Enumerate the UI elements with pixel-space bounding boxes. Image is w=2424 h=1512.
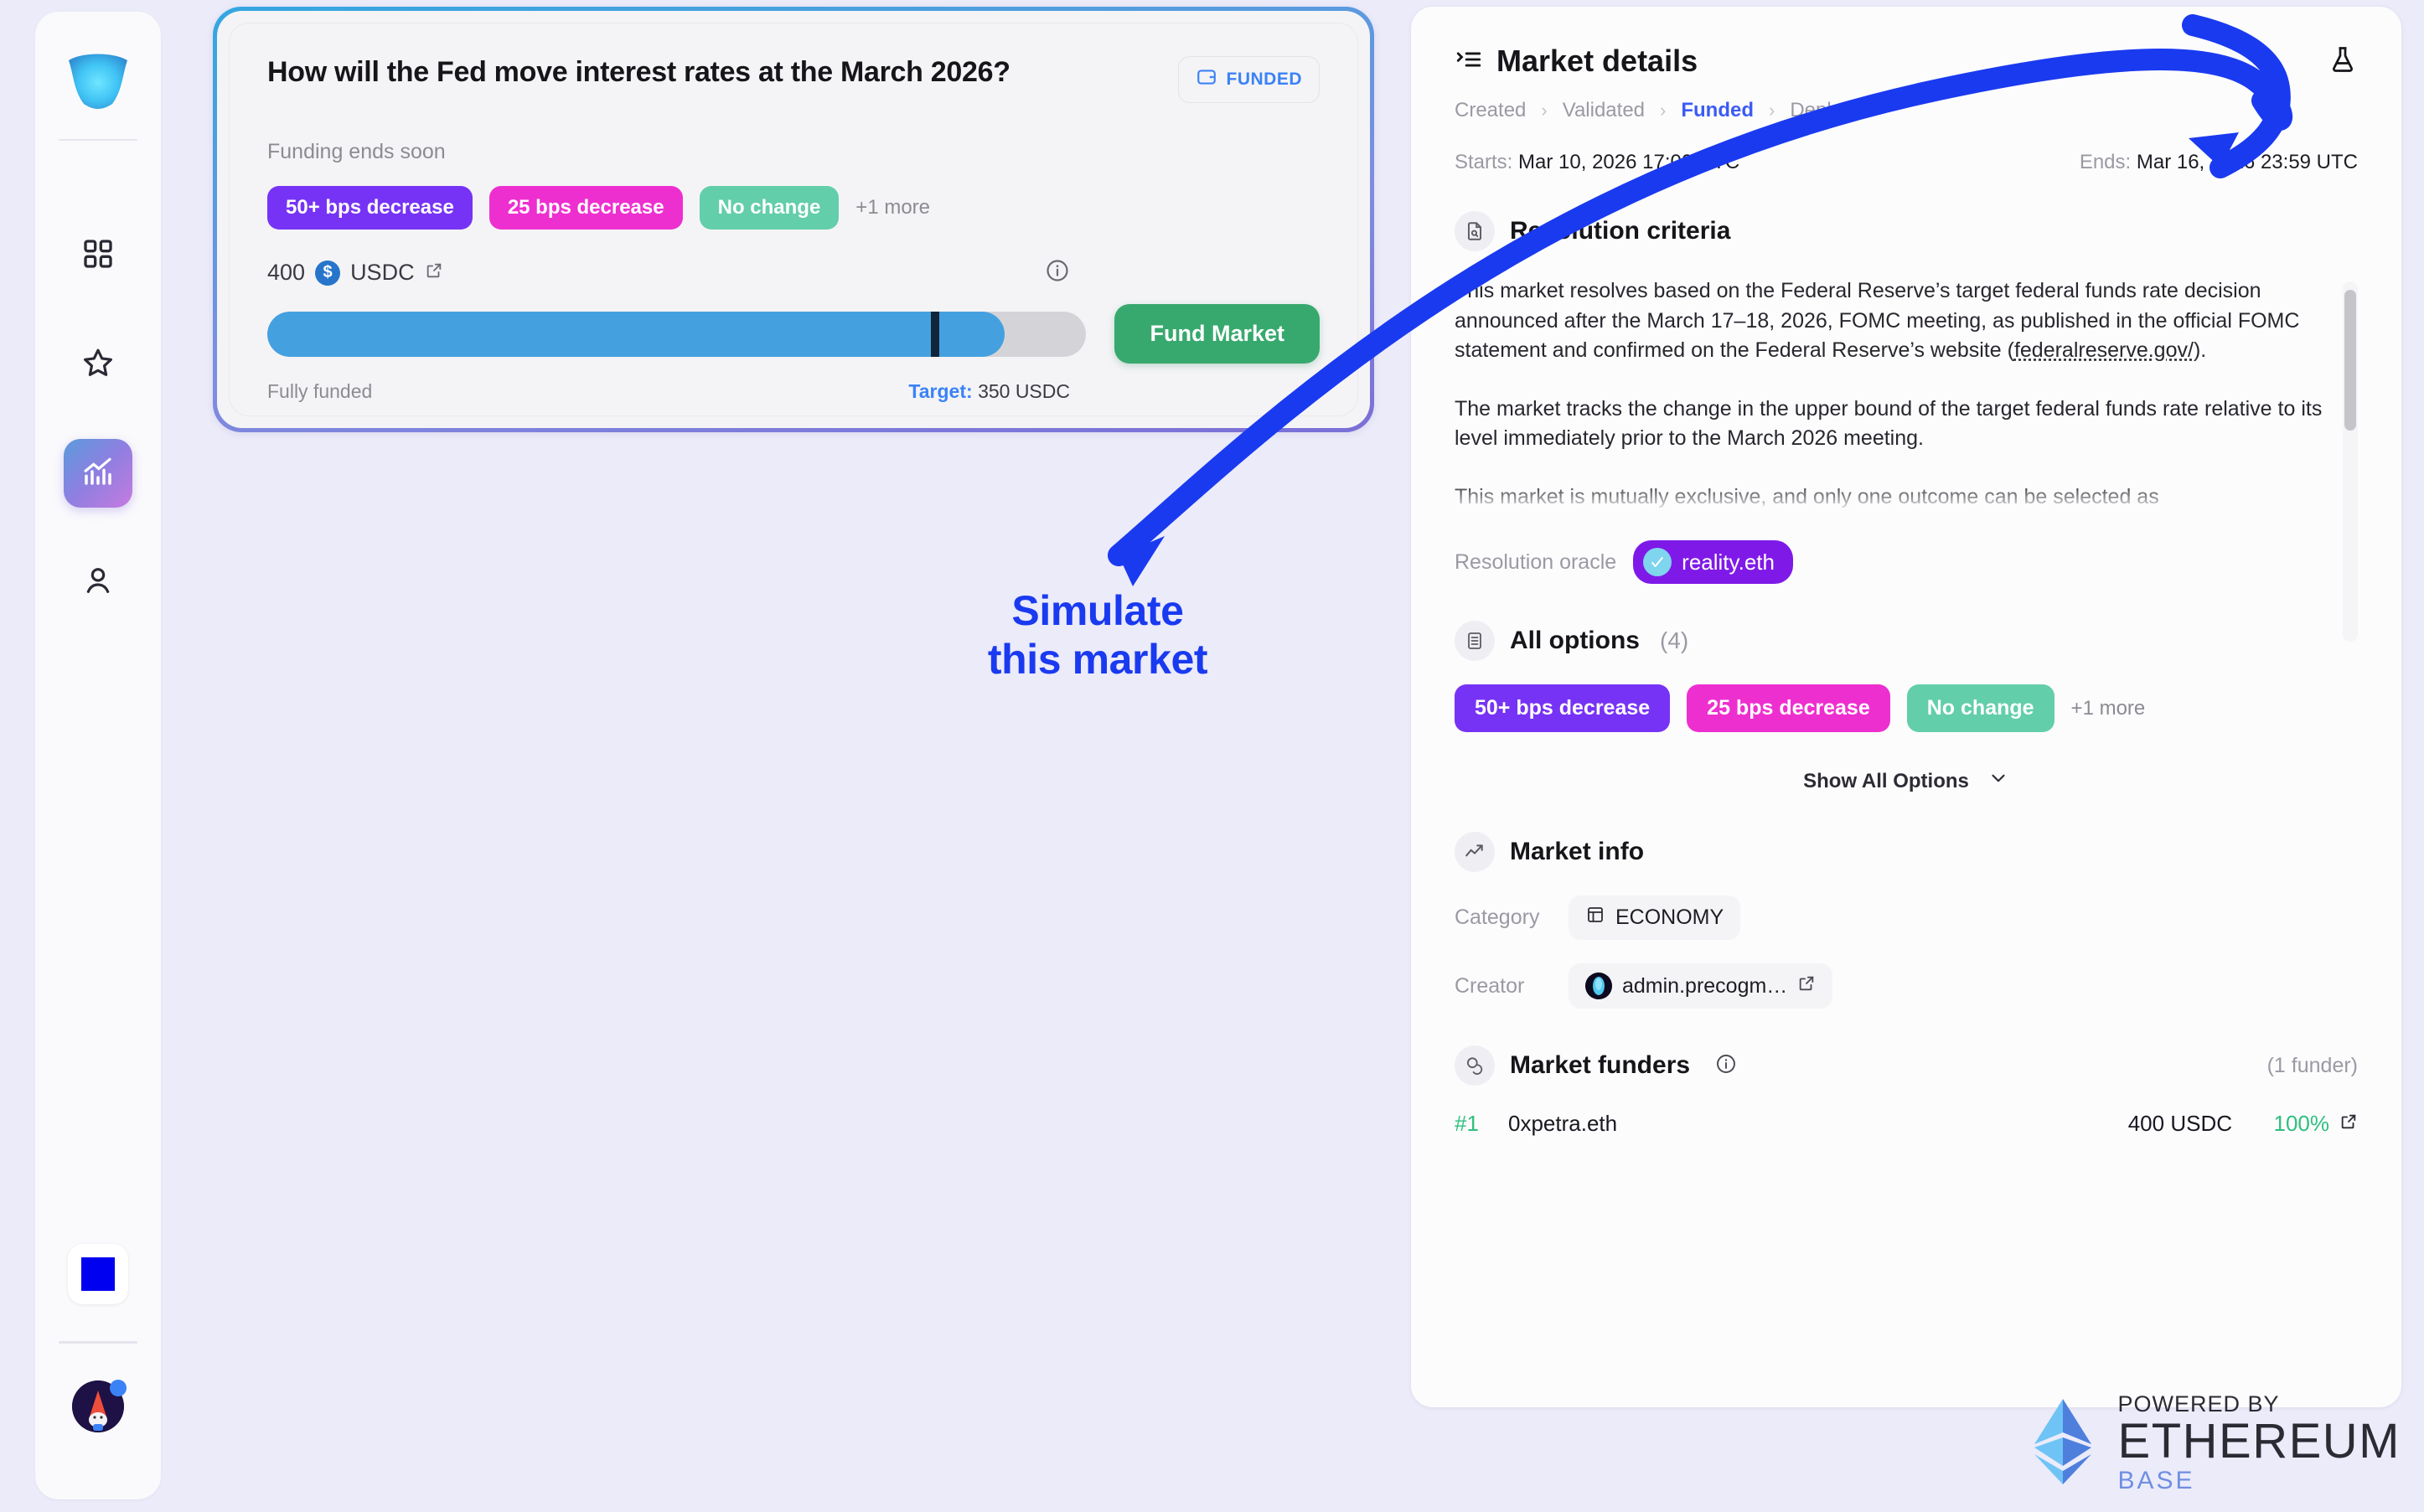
calendar-icon [1585,905,1605,931]
info-circle-icon[interactable] [1045,258,1070,287]
market-info-title: Market info [1510,838,1644,866]
powered-by-badge: POWERED BY ETHEREUM BASE [2023,1393,2401,1494]
sidebar-bottom [35,1244,161,1499]
target-label: Target: 350 USDC [908,380,1070,403]
market-title: How will the Fed move interest rates at … [267,56,1010,89]
chevron-right-icon: › [1541,100,1547,121]
all-options-count: (4) [1660,627,1688,654]
base-network-logo-icon[interactable] [68,1244,128,1304]
fund-market-button[interactable]: Fund Market [1114,304,1320,364]
table-row[interactable]: #1 0xpetra.eth 400 USDC 100% [1455,1111,2358,1137]
document-search-icon [1455,211,1495,251]
funder-percent: 100% [2232,1111,2358,1137]
list-icon [1455,621,1495,661]
category-label: Category [1455,906,1548,930]
amount-row: 400 $ USDC [267,258,1320,287]
chevron-down-icon [1987,767,2009,795]
external-link-icon[interactable] [425,260,443,286]
breadcrumb-item-deployed[interactable]: Deployed [1790,99,1874,122]
sidebar-item-profile[interactable] [64,548,132,617]
creator-value: admin.precogm… [1622,974,1787,999]
criteria-paragraph: This market resolves based on the Federa… [1455,276,2323,366]
all-options-section-header: All options (4) [1455,621,2358,661]
sidebar [35,12,161,1499]
progress-target-marker [931,312,939,357]
breadcrumb-item-funded[interactable]: Funded [1681,99,1754,122]
starts-label: Starts: [1455,151,1512,173]
date-row: Starts: Mar 10, 2026 17:00 UTC Ends: Mar… [1455,151,2358,174]
criteria-paragraph: The market tracks the change in the uppe… [1455,395,2323,454]
creator-row: Creator admin.precogm… [1455,963,2358,1009]
trending-up-icon [1455,832,1495,872]
currency-label: USDC [350,260,415,286]
all-options-title: All options [1510,627,1640,655]
fully-funded-label: Fully funded [267,380,372,403]
usdc-coin-icon: $ [315,261,340,286]
oracle-badge[interactable]: reality.eth [1633,540,1793,584]
chart-icon [80,454,116,493]
status-dot [110,1380,127,1396]
status-badge[interactable]: FUNDED [1178,56,1321,103]
category-value: ECONOMY [1615,906,1724,930]
resolution-criteria-body[interactable]: This market resolves based on the Federa… [1455,276,2358,512]
external-link-icon[interactable] [1797,974,1816,999]
chevron-right-icon: › [1660,100,1666,121]
resolution-oracle-row: Resolution oracle reality.eth [1455,540,2358,584]
option-chip[interactable]: No change [1907,684,2054,732]
gem-avatar-icon [1585,973,1612,999]
amount-value: 400 [267,260,305,286]
funder-rank: #1 [1455,1111,1508,1137]
reality-check-icon [1643,548,1672,576]
external-link-icon[interactable] [2339,1111,2358,1137]
target-value: 350 USDC [978,380,1070,402]
market-funders-section-header: Market funders (1 funder) [1455,1045,2358,1086]
show-all-options-label: Show All Options [1803,770,1969,793]
funder-name: 0xpetra.eth [1508,1111,2023,1137]
option-chip[interactable]: 50+ bps decrease [267,186,473,230]
ethereum-diamond-icon [2023,1396,2103,1492]
breadcrumb-item-created[interactable]: Created [1455,99,1526,122]
sidebar-divider-bottom [59,1341,137,1344]
starts-group: Starts: Mar 10, 2026 17:00 UTC [1455,151,1739,174]
app-root: How will the Fed move interest rates at … [0,0,2424,1512]
page-title: Market details [1496,44,1698,79]
category-badge[interactable]: ECONOMY [1569,895,1740,940]
criteria-scrollbar[interactable] [2343,281,2358,642]
progress-footer: Fully funded Target: 350 USDC [267,380,1320,403]
market-info-section-header: Market info [1455,832,2358,872]
flask-icon[interactable] [2328,44,2358,79]
market-card-header: How will the Fed move interest rates at … [267,56,1320,103]
breadcrumb: Created › Validated › Funded › Deployed [1455,99,2358,122]
funding-progress-row: Fund Market [267,304,1320,364]
annotation-line-2: this market [888,635,1307,684]
option-chip[interactable]: 50+ bps decrease [1455,684,1670,732]
progress-bar[interactable] [267,312,1086,357]
powered-by-text: POWERED BY ETHEREUM BASE [2118,1393,2401,1494]
star-icon [80,345,116,384]
market-details-panel: Market details Created › Validated › Fun… [1411,7,2401,1407]
chevron-right-icon: › [1769,100,1775,121]
wallet-icon [1196,66,1217,93]
oracle-name: reality.eth [1682,550,1775,575]
market-card[interactable]: How will the Fed move interest rates at … [213,7,1374,432]
creator-label: Creator [1455,974,1548,999]
option-chip[interactable]: 25 bps decrease [489,186,683,230]
avatar[interactable] [72,1380,124,1432]
creator-badge[interactable]: admin.precogm… [1569,963,1832,1009]
ends-label: Ends: [2080,151,2131,173]
starts-value: Mar 10, 2026 17:00 UTC [1518,151,1739,173]
powered-by-line1: POWERED BY [2118,1393,2401,1416]
more-options-label[interactable]: +1 more [2071,697,2146,720]
sidebar-divider-top [59,139,137,141]
all-options-chips: 50+ bps decrease 25 bps decrease No chan… [1455,684,2358,732]
federalreserve-link[interactable]: federalreserve.gov/ [2014,338,2194,362]
option-chip[interactable]: No change [700,186,840,230]
coins-icon [1455,1045,1495,1086]
powered-by-line3: BASE [2118,1468,2401,1494]
breadcrumb-item-validated[interactable]: Validated [1563,99,1645,122]
funders-count: (1 funder) [2267,1054,2358,1078]
option-chips: 50+ bps decrease 25 bps decrease No chan… [267,186,1320,230]
funder-percent-value: 100% [2274,1111,2330,1137]
resolution-section-header: Resolution criteria [1455,211,2358,251]
sidebar-item-favorites[interactable] [64,330,132,399]
sidebar-item-markets[interactable] [64,439,132,508]
criteria-fade [1455,483,2323,512]
user-icon [81,564,115,601]
funded-amount: 400 $ USDC [267,260,443,286]
option-chip[interactable]: 25 bps decrease [1687,684,1890,732]
annotation-text: Simulate this market [888,586,1307,684]
more-options-label[interactable]: +1 more [855,196,930,219]
category-row: Category ECONOMY [1455,895,2358,940]
powered-by-line2: ETHEREUM [2118,1417,2401,1466]
ends-value: Mar 16, 2026 23:59 UTC [2137,151,2358,173]
funding-subtitle: Funding ends soon [267,140,1320,164]
criteria-scrollbar-thumb[interactable] [2344,290,2356,431]
gem-logo-icon[interactable] [64,50,132,111]
base-square-glyph [81,1257,115,1291]
resolution-title: Resolution criteria [1510,217,1730,245]
list-details-icon [1455,45,1483,78]
ends-group: Ends: Mar 16, 2026 23:59 UTC [2080,151,2358,174]
target-prefix: Target: [908,380,972,402]
details-title-wrap: Market details [1455,44,1698,79]
progress-fill [267,312,1005,357]
details-header: Market details [1455,44,2358,79]
annotation-line-1: Simulate [888,586,1307,635]
sidebar-nav [64,221,132,617]
status-badge-label: FUNDED [1227,70,1303,90]
oracle-label: Resolution oracle [1455,550,1616,575]
funder-amount: 400 USDC [2023,1111,2232,1137]
sidebar-item-dashboard[interactable] [64,221,132,290]
grid-icon [81,237,115,275]
info-circle-icon[interactable] [1715,1053,1737,1079]
market-funders-title: Market funders [1510,1051,1690,1080]
show-all-options-button[interactable]: Show All Options [1455,767,2358,795]
